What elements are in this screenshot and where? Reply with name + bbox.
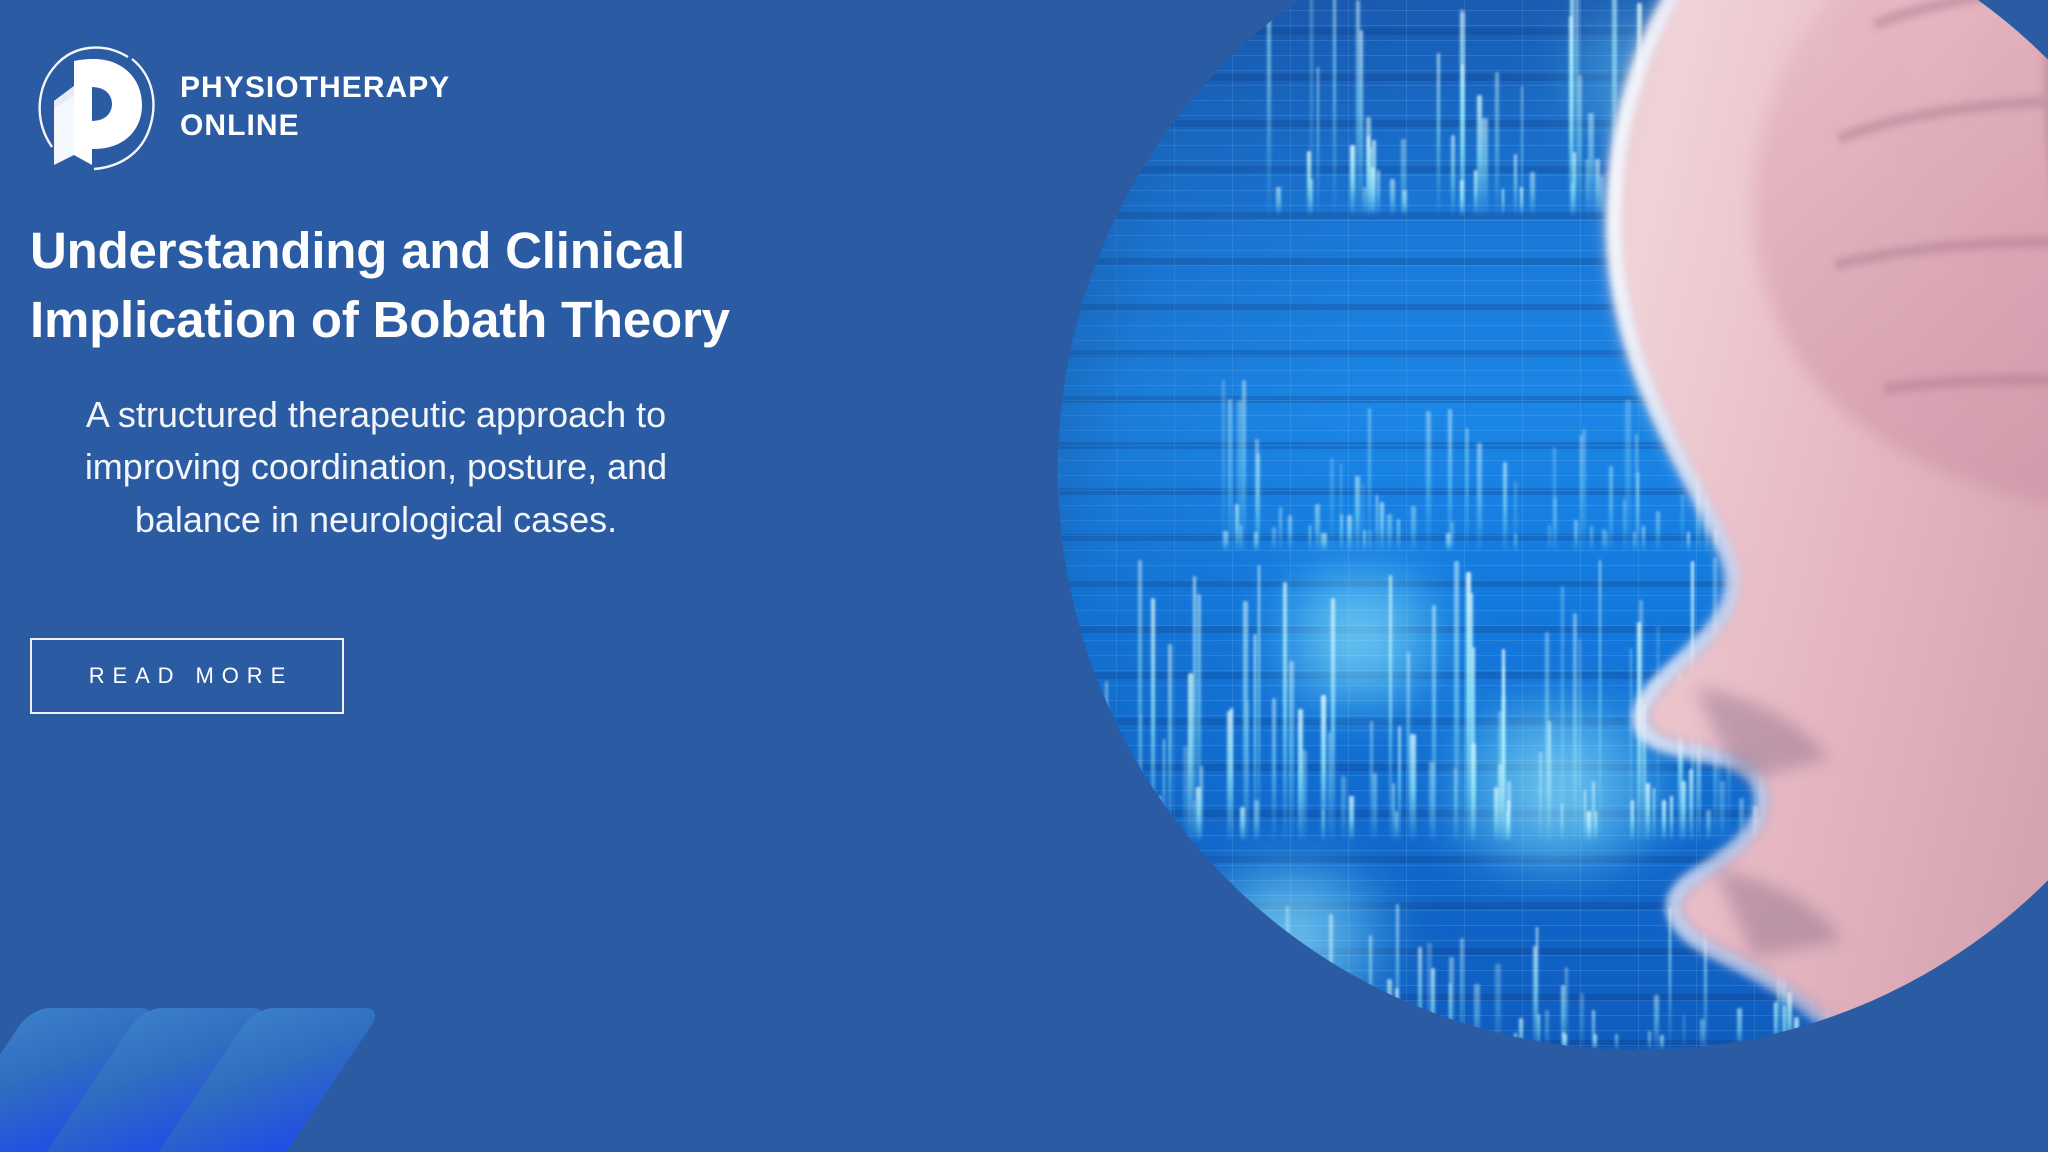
diagonal-slashes-decoration-icon: [0, 1026, 304, 1152]
brand-name-line2: ONLINE: [180, 107, 450, 145]
brand-name-line1: PHYSIOTHERAPY: [180, 71, 450, 104]
page-title: Understanding and Clinical Implication o…: [30, 216, 790, 355]
hero-circle-image: [1058, 0, 2048, 1050]
brand-name: PHYSIOTHERAPY ONLINE: [180, 69, 450, 146]
brand-lockup[interactable]: PHYSIOTHERAPY ONLINE: [30, 32, 1040, 182]
page-subtitle: A structured therapeutic approach to imp…: [26, 389, 726, 547]
content-column: PHYSIOTHERAPY ONLINE Understanding and C…: [0, 0, 1040, 1152]
letter-p-circle-logo-icon: [30, 43, 158, 171]
circle-inner-shading: [1058, 0, 2048, 1050]
promo-banner: PHYSIOTHERAPY ONLINE Understanding and C…: [0, 0, 2048, 1152]
read-more-button[interactable]: READ MORE: [30, 638, 344, 714]
